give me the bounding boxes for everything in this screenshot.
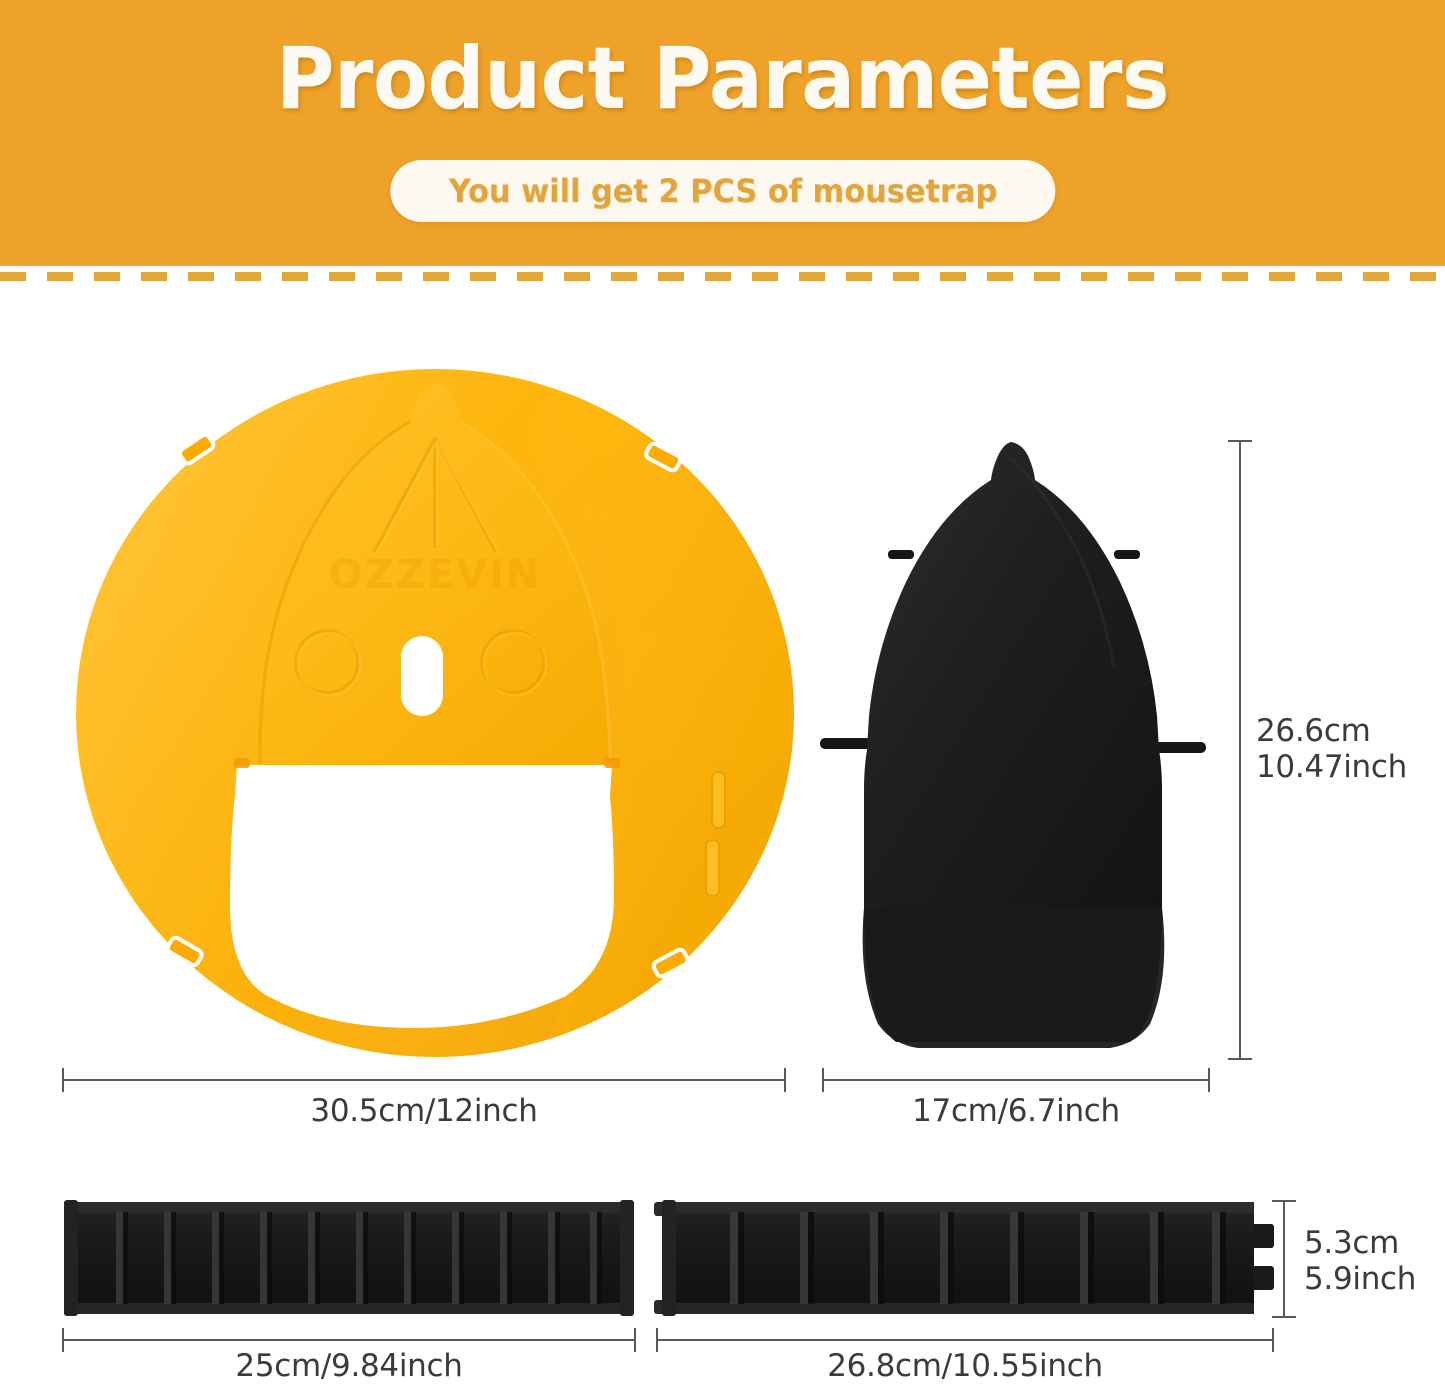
cover-notch-right (1114, 550, 1140, 559)
cover-notch-left (888, 550, 914, 559)
dashed-divider (0, 272, 1445, 281)
lid-width-dimension-line (62, 1068, 786, 1092)
lid-opening (230, 765, 614, 1028)
embossed-brand-text: OZZEVIN (329, 552, 542, 598)
cover-tab-right (1154, 742, 1206, 753)
subtitle-text: You will get 2 PCS of mousetrap (448, 172, 997, 210)
strip-height-dimension-line (1272, 1200, 1296, 1318)
black-ribbed-strip-left (60, 1196, 638, 1320)
subtitle-badge: You will get 2 PCS of mousetrap (390, 160, 1055, 222)
black-ribbed-strip-right (652, 1196, 1280, 1320)
yellow-lid-illustration: OZZEVIN (74, 366, 796, 1060)
lid-keyhole-slot (401, 636, 443, 716)
strip-height-inch: 5.9inch (1304, 1261, 1416, 1297)
black-dome-cover (818, 438, 1208, 1058)
cover-tab-left (820, 738, 872, 749)
header-banner: Product Parameters You will get 2 PCS of… (0, 0, 1445, 266)
cover-height-inch: 10.47inch (1256, 749, 1407, 785)
cover-height-dimension-line (1228, 440, 1252, 1060)
black-cover-illustration (818, 438, 1208, 1058)
page-title: Product Parameters (51, 34, 1395, 124)
cover-width-dimension-line (822, 1068, 1210, 1092)
cover-height-cm: 26.6cm (1256, 713, 1370, 749)
strip-right-illustration (652, 1196, 1280, 1320)
strip-height-label: 5.3cm 5.9inch (1304, 1225, 1416, 1297)
strip-right-width-label: 26.8cm/10.55inch (656, 1348, 1274, 1384)
strip-left-illustration (60, 1196, 638, 1320)
yellow-circular-lid: OZZEVIN (74, 366, 796, 1060)
lid-width-label: 30.5cm/12inch (62, 1093, 786, 1129)
cover-width-label: 17cm/6.7inch (822, 1093, 1210, 1129)
strip-left-width-label: 25cm/9.84inch (62, 1348, 636, 1384)
strip-height-cm: 5.3cm (1304, 1225, 1399, 1261)
cover-height-label: 26.6cm 10.47inch (1256, 713, 1407, 785)
